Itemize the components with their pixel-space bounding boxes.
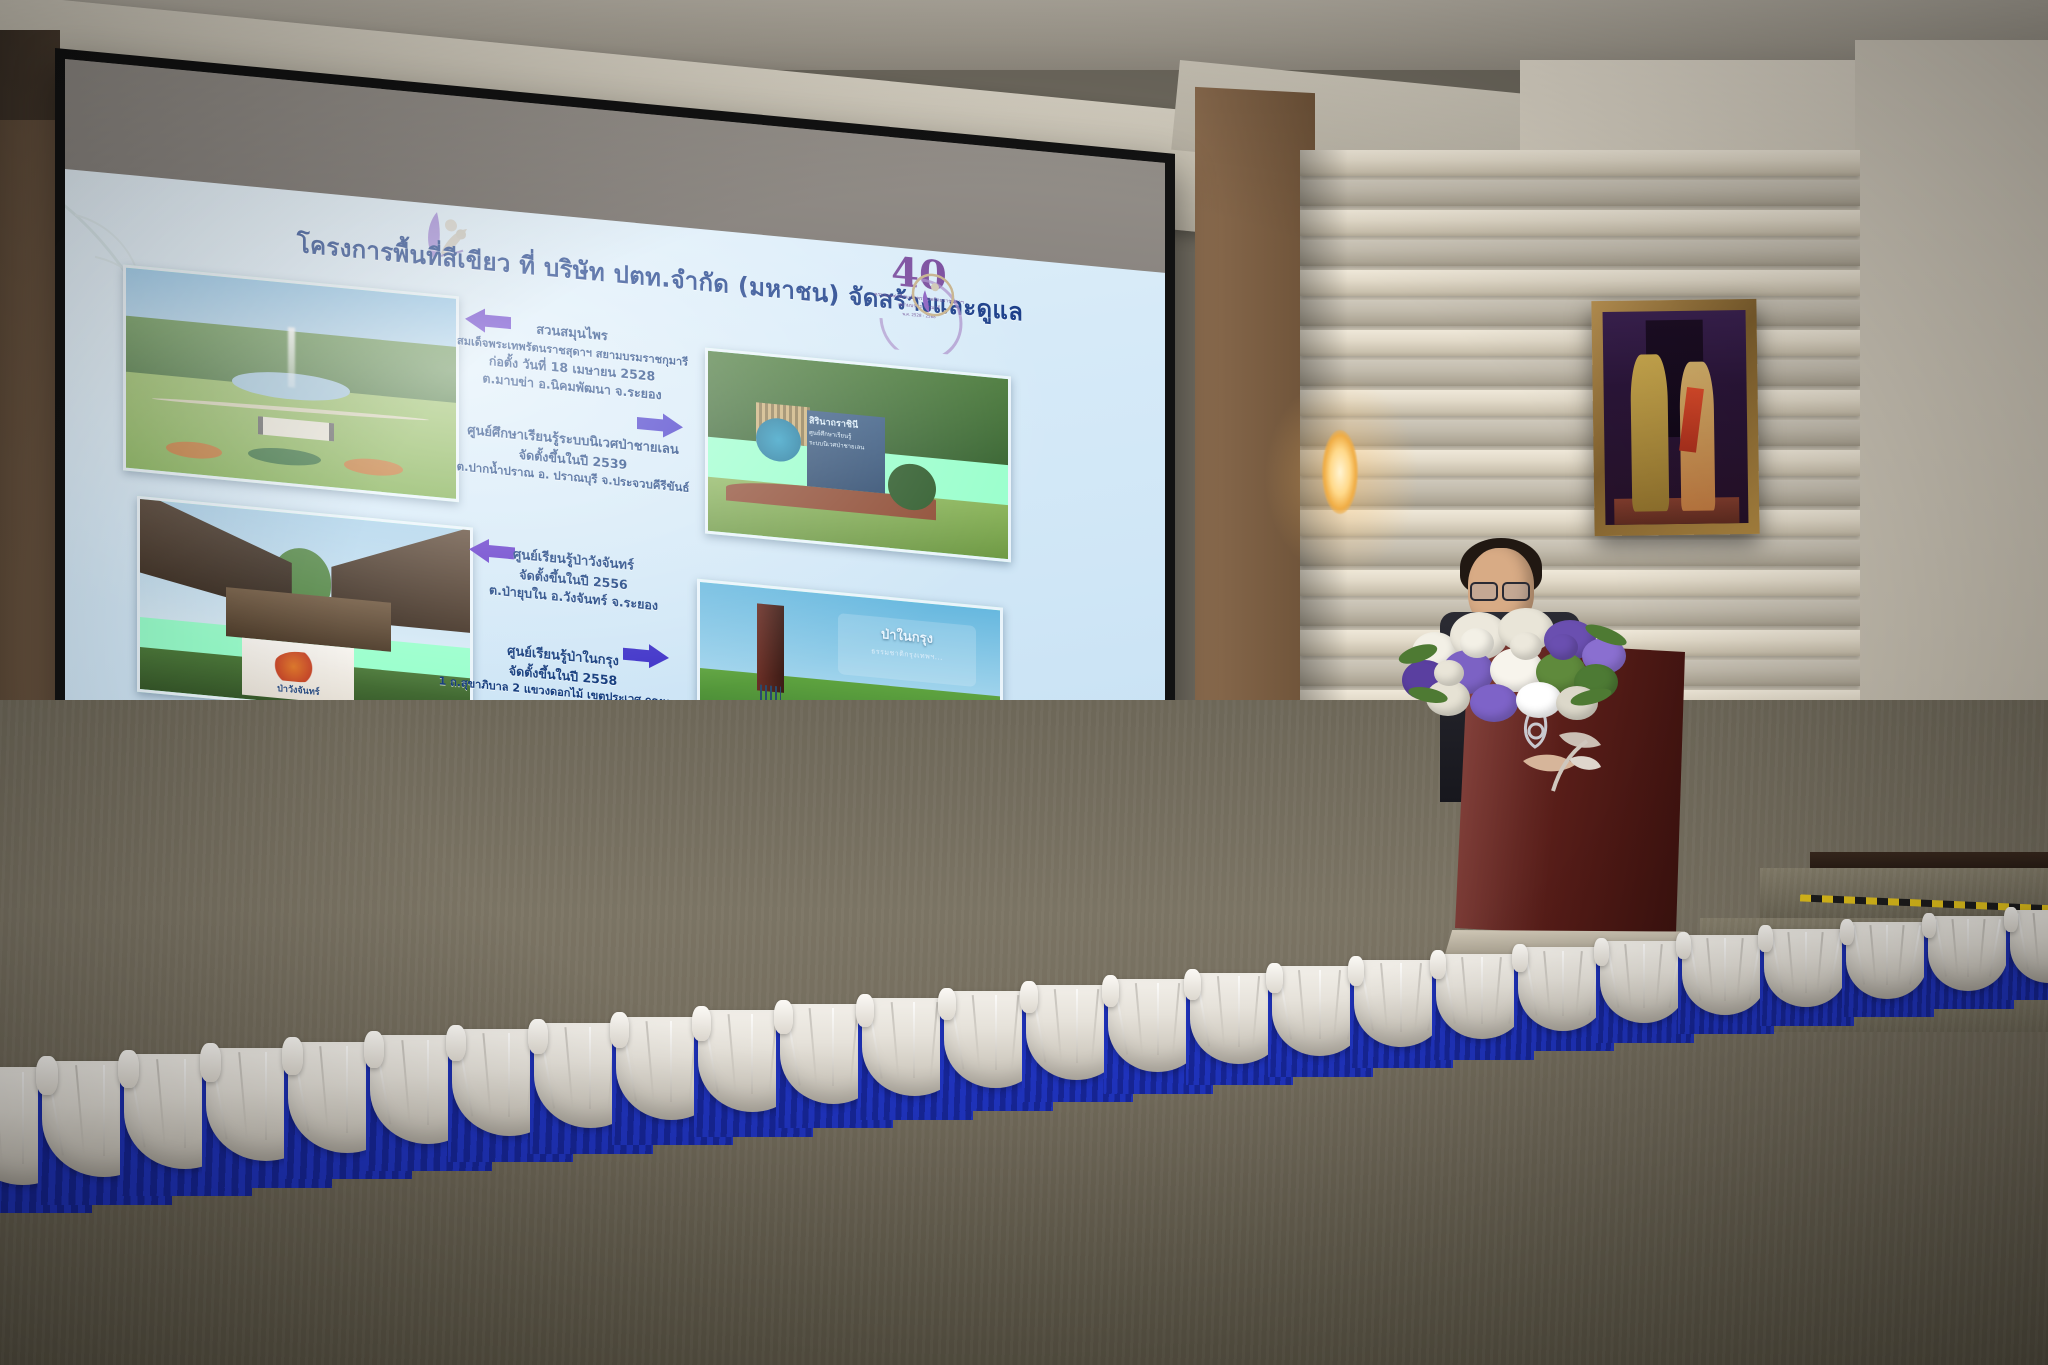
swag-knot — [1184, 969, 1201, 1000]
swag-fold — [1157, 983, 1159, 1055]
wall-slat — [1300, 570, 1860, 596]
wall-slat — [1300, 450, 1860, 476]
swag-fold — [589, 1027, 591, 1109]
swag-fold — [646, 1021, 655, 1102]
swag-fold — [972, 995, 981, 1070]
swag-fold — [184, 1059, 186, 1148]
stage-skirt-swag — [1600, 941, 1688, 1023]
swag-knot — [2004, 907, 2018, 932]
wall-slat — [1300, 270, 1860, 296]
wall-slat — [1300, 390, 1860, 416]
swag-fold — [1625, 944, 1633, 1008]
swag-fold — [1897, 925, 1904, 985]
swag-fold — [1909, 926, 1921, 985]
flower-bloom — [1510, 632, 1542, 660]
swag-fold — [508, 1033, 510, 1117]
anniversary-ring-icon — [865, 251, 973, 357]
swag-fold — [156, 1059, 166, 1148]
swag-fold — [1494, 957, 1502, 1024]
swag-fold — [1853, 926, 1865, 985]
photo3-banner: ป่าวังจันทร์ — [242, 638, 354, 706]
swag-knot — [36, 1056, 58, 1095]
swag-fold — [913, 1002, 915, 1079]
swag-fold — [1010, 995, 1019, 1070]
flower-bloom — [1434, 660, 1464, 686]
swag-fold — [346, 1046, 348, 1132]
swag-fold — [265, 1052, 267, 1140]
photo1-water-jet — [288, 327, 295, 388]
swag-knot — [1266, 963, 1283, 993]
presentation-room-scene: โครงการพื้นที่สีเขียว ที่ บริษัท ปตท.จำก… — [0, 0, 2048, 1365]
swag-knot — [1102, 975, 1119, 1006]
swag-fold — [1054, 989, 1062, 1063]
wall-slat — [1300, 210, 1860, 236]
swag-knot — [938, 988, 956, 1021]
flower-bloom — [1470, 684, 1518, 722]
swag-knot — [446, 1025, 466, 1061]
photo2-signboard: สิรินาถราชินี ศูนย์ศึกษาเรียนรู้ ระบบนิเ… — [807, 410, 885, 493]
stage-skirt-swag — [1928, 916, 2008, 991]
swag-fold — [670, 1021, 672, 1102]
stage-skirt-swag — [1846, 922, 1928, 999]
swag-knot — [1020, 981, 1038, 1013]
swag-knot — [856, 994, 874, 1027]
arrow-right-entry-2 — [637, 411, 683, 439]
swag-knot — [692, 1006, 711, 1041]
swag-fold — [103, 1065, 105, 1156]
wall-sconce-light-icon — [1322, 430, 1358, 514]
swag-fold — [1655, 944, 1663, 1008]
caption-entry-1: สวนสมุนไพร สมเด็จพระเทพรัตนราชสุดาฯ สยาม… — [457, 314, 687, 407]
wall-slat — [1300, 240, 1860, 266]
swag-fold — [1298, 970, 1306, 1040]
swag-fold — [1869, 925, 1876, 985]
swag-knot — [1758, 925, 1773, 952]
swag-knot — [1348, 956, 1364, 986]
swag-fold — [890, 1002, 899, 1079]
swag-fold — [75, 1065, 85, 1155]
swag-fold — [1319, 970, 1321, 1040]
swag-fold — [809, 1008, 818, 1086]
swag-fold — [2033, 913, 2040, 970]
swag-fold — [1252, 976, 1260, 1047]
flower-bloom — [1516, 682, 1562, 718]
swag-fold — [401, 1040, 410, 1125]
swag-fold — [832, 1008, 834, 1086]
swag-knot — [1594, 938, 1609, 966]
swag-fold — [1886, 925, 1888, 985]
swag-fold — [1817, 932, 1824, 993]
swag-knot — [282, 1037, 303, 1075]
swag-fold — [1989, 919, 2001, 977]
swag-fold — [1829, 932, 1842, 993]
swag-fold — [1400, 963, 1402, 1031]
swag-fold — [1461, 957, 1469, 1024]
swag-knot — [118, 1050, 139, 1089]
swag-knot — [1840, 919, 1854, 945]
swag-fold — [751, 1014, 753, 1093]
swag-knot — [528, 1019, 548, 1055]
swag-fold — [482, 1033, 491, 1116]
mangrove-center-entrance-photo: สิรินาถราชินี ศูนย์ศึกษาเรียนรู้ ระบบนิเ… — [705, 347, 1011, 562]
wall-slat — [1300, 420, 1860, 446]
swag-fold — [1724, 938, 1726, 1001]
flower-bloom — [1548, 634, 1578, 660]
swag-fold — [1805, 932, 1807, 993]
swag-fold — [22, 1072, 24, 1164]
swag-knot — [1676, 932, 1691, 959]
caption-entry-3: ศูนย์เรียนรู้ป่าวังจันทร์ จัดตั้งขึ้นในป… — [461, 541, 686, 617]
swag-fold — [1935, 919, 1947, 977]
wall-slat — [1300, 300, 1860, 326]
swag-knot — [610, 1012, 629, 1047]
swag-fold — [0, 1072, 3, 1164]
photo3-banner-graphic — [274, 650, 323, 684]
swag-fold — [238, 1053, 248, 1141]
photo4-observation-tower — [757, 604, 784, 693]
swag-fold — [1414, 963, 1422, 1031]
swag-fold — [1643, 944, 1645, 1008]
flower-bloom — [1460, 628, 1494, 658]
royal-portrait-frame — [1591, 299, 1759, 536]
swag-fold — [427, 1040, 429, 1125]
swag-fold — [1736, 938, 1743, 1001]
swag-fold — [319, 1046, 329, 1132]
swag-fold — [930, 1002, 939, 1079]
herb-garden-fountain-photo — [123, 264, 459, 502]
swag-knot — [364, 1031, 384, 1068]
swag-fold — [1333, 970, 1341, 1040]
portrait-figure-king — [1630, 354, 1669, 512]
anniversary-emblem: 40 ครบรอบ๔๐ปีสมเด็จพระเทพรัตนราชสุดาฯ สย… — [865, 251, 973, 357]
swag-knot — [1922, 913, 1936, 938]
swag-fold — [1380, 963, 1388, 1031]
swag-fold — [2017, 913, 2029, 970]
swag-fold — [1238, 976, 1240, 1047]
wall-slat — [1300, 330, 1860, 356]
swag-knot — [774, 1000, 793, 1034]
swag-fold — [1135, 983, 1143, 1055]
swag-fold — [1967, 919, 1969, 977]
wall-slat — [1300, 180, 1860, 206]
swag-fold — [1706, 938, 1713, 1001]
wall-slat — [1300, 150, 1860, 176]
wall-wood-right — [1195, 87, 1315, 793]
swag-fold — [564, 1027, 573, 1109]
stage-skirt-swag — [1682, 935, 1768, 1015]
swag-fold — [1217, 976, 1225, 1047]
swag-fold — [727, 1014, 736, 1093]
wang-chan-pavilion-photo: ป่าวังจันทร์ — [137, 496, 473, 724]
swag-fold — [1076, 989, 1078, 1063]
swag-fold — [1978, 919, 1985, 977]
swag-fold — [1172, 983, 1180, 1055]
swag-knot — [1430, 950, 1446, 979]
swag-knot — [1512, 944, 1528, 972]
wall-slat — [1300, 510, 1860, 536]
swag-fold — [1091, 989, 1099, 1063]
wall-slat — [1300, 480, 1860, 506]
swag-fold — [1951, 919, 1958, 977]
swag-fold — [1788, 932, 1795, 993]
flower-arrangement — [1398, 598, 1628, 733]
stage-skirt-swag — [1764, 929, 1848, 1008]
swag-fold — [1562, 951, 1564, 1016]
speaker-glasses-icon — [1470, 582, 1530, 598]
swag-fold — [1481, 957, 1483, 1024]
royal-portrait-image — [1603, 310, 1749, 525]
wall-slat — [1300, 360, 1860, 386]
swag-fold — [995, 995, 997, 1070]
swag-fold — [1575, 951, 1583, 1016]
swag-fold — [1543, 951, 1551, 1016]
swag-knot — [200, 1043, 221, 1081]
wall-slat — [1300, 540, 1860, 566]
